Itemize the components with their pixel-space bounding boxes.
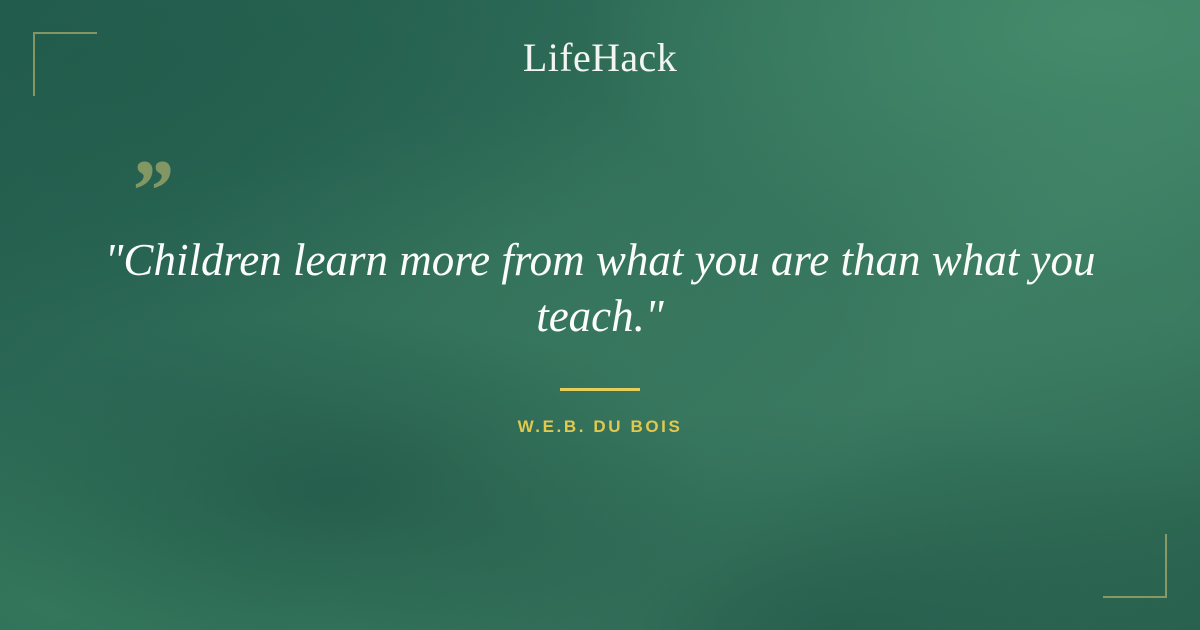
corner-bracket-bottom-right-icon [1103, 534, 1167, 598]
quote-line-1: "Children learn more from what you are t… [105, 235, 1096, 285]
brand-logo: LifeHack [0, 36, 1200, 80]
divider [560, 388, 640, 391]
brand-name: LifeHack [523, 35, 677, 80]
quote-card: LifeHack ” "Children learn more from wha… [0, 0, 1200, 630]
quotation-mark-icon: ” [128, 148, 172, 236]
quote-block: "Children learn more from what you are t… [100, 232, 1100, 437]
quote-line-2: teach." [536, 291, 664, 341]
quote-text: "Children learn more from what you are t… [100, 232, 1100, 344]
quote-author: W.E.B. DU BOIS [100, 417, 1100, 437]
